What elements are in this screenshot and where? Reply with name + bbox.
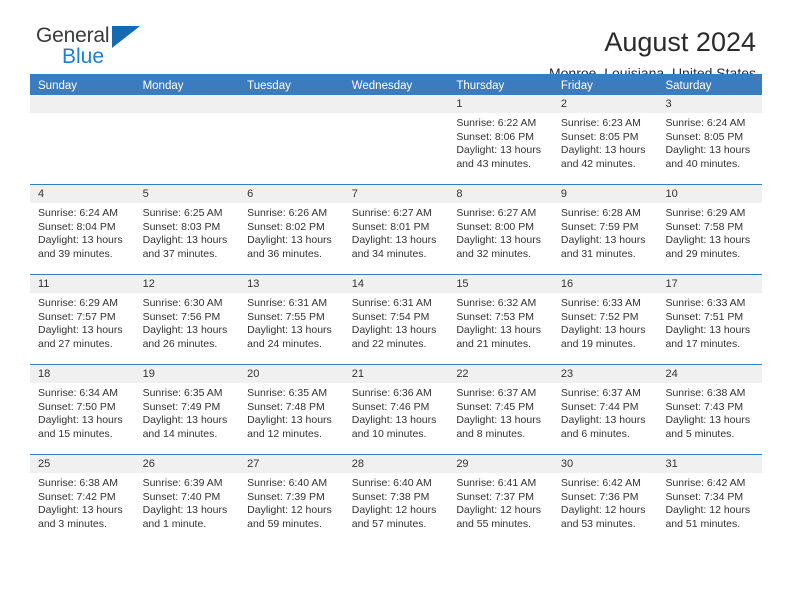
sunset-text: Sunset: 7:49 PM: [143, 401, 234, 415]
sunrise-text: Sunrise: 6:31 AM: [352, 297, 443, 311]
day-info: Sunrise: 6:26 AMSunset: 8:02 PMDaylight:…: [239, 203, 344, 261]
sunrise-text: Sunrise: 6:29 AM: [38, 297, 129, 311]
day-cell[interactable]: 16Sunrise: 6:33 AMSunset: 7:52 PMDayligh…: [553, 275, 658, 364]
day-number: 16: [553, 275, 658, 293]
sunrise-text: Sunrise: 6:32 AM: [456, 297, 547, 311]
day-cell[interactable]: 21Sunrise: 6:36 AMSunset: 7:46 PMDayligh…: [344, 365, 449, 454]
sunset-text: Sunset: 7:38 PM: [352, 491, 443, 505]
day-cell[interactable]: 30Sunrise: 6:42 AMSunset: 7:36 PMDayligh…: [553, 455, 658, 544]
sunrise-text: Sunrise: 6:33 AM: [561, 297, 652, 311]
sunrise-text: Sunrise: 6:26 AM: [247, 207, 338, 221]
day-info: Sunrise: 6:42 AMSunset: 7:34 PMDaylight:…: [657, 473, 762, 531]
sunset-text: Sunset: 7:46 PM: [352, 401, 443, 415]
day-number: 29: [448, 455, 553, 473]
daylight-text: Daylight: 13 hours and 17 minutes.: [665, 324, 756, 351]
sunrise-text: Sunrise: 6:22 AM: [456, 117, 547, 131]
sunrise-text: Sunrise: 6:34 AM: [38, 387, 129, 401]
day-cell[interactable]: 7Sunrise: 6:27 AMSunset: 8:01 PMDaylight…: [344, 185, 449, 274]
sunset-text: Sunset: 7:43 PM: [665, 401, 756, 415]
day-number: 21: [344, 365, 449, 383]
daylight-text: Daylight: 13 hours and 14 minutes.: [143, 414, 234, 441]
day-cell[interactable]: 10Sunrise: 6:29 AMSunset: 7:58 PMDayligh…: [657, 185, 762, 274]
sunset-text: Sunset: 7:44 PM: [561, 401, 652, 415]
day-info: Sunrise: 6:39 AMSunset: 7:40 PMDaylight:…: [135, 473, 240, 531]
day-info: Sunrise: 6:25 AMSunset: 8:03 PMDaylight:…: [135, 203, 240, 261]
day-number: 2: [553, 95, 658, 113]
weekday-header-wednesday: Wednesday: [344, 74, 449, 95]
day-info: Sunrise: 6:27 AMSunset: 8:01 PMDaylight:…: [344, 203, 449, 261]
sunset-text: Sunset: 8:05 PM: [561, 131, 652, 145]
daylight-text: Daylight: 12 hours and 55 minutes.: [456, 504, 547, 531]
sunrise-text: Sunrise: 6:27 AM: [456, 207, 547, 221]
daylight-text: Daylight: 12 hours and 53 minutes.: [561, 504, 652, 531]
sunset-text: Sunset: 7:56 PM: [143, 311, 234, 325]
sunset-text: Sunset: 8:02 PM: [247, 221, 338, 235]
sunrise-text: Sunrise: 6:35 AM: [247, 387, 338, 401]
sunset-text: Sunset: 8:06 PM: [456, 131, 547, 145]
weekday-header-sunday: Sunday: [30, 74, 135, 95]
day-cell[interactable]: 26Sunrise: 6:39 AMSunset: 7:40 PMDayligh…: [135, 455, 240, 544]
day-cell[interactable]: 31Sunrise: 6:42 AMSunset: 7:34 PMDayligh…: [657, 455, 762, 544]
sunrise-text: Sunrise: 6:24 AM: [665, 117, 756, 131]
general-blue-logo[interactable]: General Blue: [36, 25, 156, 73]
daylight-text: Daylight: 13 hours and 21 minutes.: [456, 324, 547, 351]
day-number: 4: [30, 185, 135, 203]
day-info: Sunrise: 6:42 AMSunset: 7:36 PMDaylight:…: [553, 473, 658, 531]
day-cell[interactable]: 19Sunrise: 6:35 AMSunset: 7:49 PMDayligh…: [135, 365, 240, 454]
sunset-text: Sunset: 8:03 PM: [143, 221, 234, 235]
sunrise-text: Sunrise: 6:27 AM: [352, 207, 443, 221]
daylight-text: Daylight: 13 hours and 42 minutes.: [561, 144, 652, 171]
weekday-header-saturday: Saturday: [657, 74, 762, 95]
day-number: 26: [135, 455, 240, 473]
day-info: Sunrise: 6:31 AMSunset: 7:55 PMDaylight:…: [239, 293, 344, 351]
sunrise-text: Sunrise: 6:38 AM: [38, 477, 129, 491]
day-number: 14: [344, 275, 449, 293]
day-cell[interactable]: 9Sunrise: 6:28 AMSunset: 7:59 PMDaylight…: [553, 185, 658, 274]
daylight-text: Daylight: 13 hours and 34 minutes.: [352, 234, 443, 261]
day-number: 6: [239, 185, 344, 203]
sunset-text: Sunset: 8:05 PM: [665, 131, 756, 145]
logo-triangle-icon: [112, 26, 140, 48]
sunset-text: Sunset: 7:34 PM: [665, 491, 756, 505]
sunrise-text: Sunrise: 6:30 AM: [143, 297, 234, 311]
day-info: Sunrise: 6:37 AMSunset: 7:44 PMDaylight:…: [553, 383, 658, 441]
day-info: Sunrise: 6:23 AMSunset: 8:05 PMDaylight:…: [553, 113, 658, 171]
day-number: 31: [657, 455, 762, 473]
day-info: Sunrise: 6:33 AMSunset: 7:52 PMDaylight:…: [553, 293, 658, 351]
day-info: Sunrise: 6:41 AMSunset: 7:37 PMDaylight:…: [448, 473, 553, 531]
daylight-text: Daylight: 13 hours and 19 minutes.: [561, 324, 652, 351]
daylight-text: Daylight: 13 hours and 10 minutes.: [352, 414, 443, 441]
daylight-text: Daylight: 13 hours and 43 minutes.: [456, 144, 547, 171]
day-info: Sunrise: 6:40 AMSunset: 7:39 PMDaylight:…: [239, 473, 344, 531]
day-info: Sunrise: 6:24 AMSunset: 8:05 PMDaylight:…: [657, 113, 762, 171]
day-number: 24: [657, 365, 762, 383]
day-number: 15: [448, 275, 553, 293]
day-number: [135, 95, 240, 113]
day-info: Sunrise: 6:35 AMSunset: 7:49 PMDaylight:…: [135, 383, 240, 441]
day-info: Sunrise: 6:38 AMSunset: 7:42 PMDaylight:…: [30, 473, 135, 531]
sunset-text: Sunset: 7:54 PM: [352, 311, 443, 325]
sunset-text: Sunset: 8:01 PM: [352, 221, 443, 235]
daylight-text: Daylight: 13 hours and 1 minute.: [143, 504, 234, 531]
day-cell[interactable]: 24Sunrise: 6:38 AMSunset: 7:43 PMDayligh…: [657, 365, 762, 454]
sunrise-text: Sunrise: 6:35 AM: [143, 387, 234, 401]
day-number: 23: [553, 365, 658, 383]
sunset-text: Sunset: 7:52 PM: [561, 311, 652, 325]
day-number: 13: [239, 275, 344, 293]
day-cell[interactable]: 27Sunrise: 6:40 AMSunset: 7:39 PMDayligh…: [239, 455, 344, 544]
weekday-header-friday: Friday: [553, 74, 658, 95]
day-cell[interactable]: 11Sunrise: 6:29 AMSunset: 7:57 PMDayligh…: [30, 275, 135, 364]
sunset-text: Sunset: 7:37 PM: [456, 491, 547, 505]
day-cell[interactable]: 17Sunrise: 6:33 AMSunset: 7:51 PMDayligh…: [657, 275, 762, 364]
day-number: 28: [344, 455, 449, 473]
day-number: 17: [657, 275, 762, 293]
sunset-text: Sunset: 7:50 PM: [38, 401, 129, 415]
weekday-header-monday: Monday: [135, 74, 240, 95]
day-cell[interactable]: 15Sunrise: 6:32 AMSunset: 7:53 PMDayligh…: [448, 275, 553, 364]
sunrise-text: Sunrise: 6:23 AM: [561, 117, 652, 131]
day-cell[interactable]: 14Sunrise: 6:31 AMSunset: 7:54 PMDayligh…: [344, 275, 449, 364]
day-info: Sunrise: 6:28 AMSunset: 7:59 PMDaylight:…: [553, 203, 658, 261]
day-number: 30: [553, 455, 658, 473]
sunrise-text: Sunrise: 6:28 AM: [561, 207, 652, 221]
logo-text-blue: Blue: [62, 46, 156, 68]
page-header: General Blue August 2024 Monroe, Louisia…: [30, 0, 762, 74]
daylight-text: Daylight: 13 hours and 37 minutes.: [143, 234, 234, 261]
day-cell[interactable]: 2Sunrise: 6:23 AMSunset: 8:05 PMDaylight…: [553, 95, 658, 184]
day-number: 12: [135, 275, 240, 293]
sunrise-text: Sunrise: 6:41 AM: [456, 477, 547, 491]
daylight-text: Daylight: 13 hours and 8 minutes.: [456, 414, 547, 441]
sunset-text: Sunset: 7:59 PM: [561, 221, 652, 235]
calendar-week-row: 25Sunrise: 6:38 AMSunset: 7:42 PMDayligh…: [30, 454, 762, 544]
sunrise-text: Sunrise: 6:33 AM: [665, 297, 756, 311]
day-info: Sunrise: 6:37 AMSunset: 7:45 PMDaylight:…: [448, 383, 553, 441]
page-title: August 2024: [549, 26, 756, 58]
day-number: 10: [657, 185, 762, 203]
calendar-grid: SundayMondayTuesdayWednesdayThursdayFrid…: [30, 74, 762, 544]
sunrise-text: Sunrise: 6:40 AM: [247, 477, 338, 491]
calendar-week-row: 1Sunrise: 6:22 AMSunset: 8:06 PMDaylight…: [30, 95, 762, 184]
calendar-week-row: 11Sunrise: 6:29 AMSunset: 7:57 PMDayligh…: [30, 274, 762, 364]
calendar-page: General Blue August 2024 Monroe, Louisia…: [0, 0, 792, 612]
sunrise-text: Sunrise: 6:36 AM: [352, 387, 443, 401]
sunset-text: Sunset: 7:57 PM: [38, 311, 129, 325]
day-info: Sunrise: 6:36 AMSunset: 7:46 PMDaylight:…: [344, 383, 449, 441]
daylight-text: Daylight: 13 hours and 24 minutes.: [247, 324, 338, 351]
daylight-text: Daylight: 13 hours and 40 minutes.: [665, 144, 756, 171]
day-number: 9: [553, 185, 658, 203]
sunrise-text: Sunrise: 6:37 AM: [456, 387, 547, 401]
sunset-text: Sunset: 7:45 PM: [456, 401, 547, 415]
sunset-text: Sunset: 7:36 PM: [561, 491, 652, 505]
day-cell[interactable]: 4Sunrise: 6:24 AMSunset: 8:04 PMDaylight…: [30, 185, 135, 274]
daylight-text: Daylight: 13 hours and 3 minutes.: [38, 504, 129, 531]
day-info: Sunrise: 6:29 AMSunset: 7:57 PMDaylight:…: [30, 293, 135, 351]
daylight-text: Daylight: 13 hours and 32 minutes.: [456, 234, 547, 261]
daylight-text: Daylight: 13 hours and 27 minutes.: [38, 324, 129, 351]
daylight-text: Daylight: 13 hours and 6 minutes.: [561, 414, 652, 441]
daylight-text: Daylight: 13 hours and 5 minutes.: [665, 414, 756, 441]
weekday-header-thursday: Thursday: [448, 74, 553, 95]
day-cell[interactable]: 13Sunrise: 6:31 AMSunset: 7:55 PMDayligh…: [239, 275, 344, 364]
day-info: Sunrise: 6:40 AMSunset: 7:38 PMDaylight:…: [344, 473, 449, 531]
sunset-text: Sunset: 8:04 PM: [38, 221, 129, 235]
day-cell[interactable]: 23Sunrise: 6:37 AMSunset: 7:44 PMDayligh…: [553, 365, 658, 454]
day-number: [30, 95, 135, 113]
day-cell[interactable]: 8Sunrise: 6:27 AMSunset: 8:00 PMDaylight…: [448, 185, 553, 274]
daylight-text: Daylight: 13 hours and 39 minutes.: [38, 234, 129, 261]
day-info: Sunrise: 6:30 AMSunset: 7:56 PMDaylight:…: [135, 293, 240, 351]
day-cell[interactable]: 29Sunrise: 6:41 AMSunset: 7:37 PMDayligh…: [448, 455, 553, 544]
day-cell[interactable]: 12Sunrise: 6:30 AMSunset: 7:56 PMDayligh…: [135, 275, 240, 364]
sunset-text: Sunset: 8:00 PM: [456, 221, 547, 235]
daylight-text: Daylight: 13 hours and 31 minutes.: [561, 234, 652, 261]
day-info: Sunrise: 6:35 AMSunset: 7:48 PMDaylight:…: [239, 383, 344, 441]
day-cell[interactable]: 25Sunrise: 6:38 AMSunset: 7:42 PMDayligh…: [30, 455, 135, 544]
sunset-text: Sunset: 7:40 PM: [143, 491, 234, 505]
day-number: 19: [135, 365, 240, 383]
day-info: Sunrise: 6:32 AMSunset: 7:53 PMDaylight:…: [448, 293, 553, 351]
day-number: 8: [448, 185, 553, 203]
day-info: Sunrise: 6:22 AMSunset: 8:06 PMDaylight:…: [448, 113, 553, 171]
sunrise-text: Sunrise: 6:31 AM: [247, 297, 338, 311]
day-number: 18: [30, 365, 135, 383]
calendar-week-row: 18Sunrise: 6:34 AMSunset: 7:50 PMDayligh…: [30, 364, 762, 454]
day-info: Sunrise: 6:38 AMSunset: 7:43 PMDaylight:…: [657, 383, 762, 441]
daylight-text: Daylight: 12 hours and 51 minutes.: [665, 504, 756, 531]
weekday-header-tuesday: Tuesday: [239, 74, 344, 95]
day-cell[interactable]: 20Sunrise: 6:35 AMSunset: 7:48 PMDayligh…: [239, 365, 344, 454]
daylight-text: Daylight: 13 hours and 15 minutes.: [38, 414, 129, 441]
sunset-text: Sunset: 7:58 PM: [665, 221, 756, 235]
day-info: Sunrise: 6:33 AMSunset: 7:51 PMDaylight:…: [657, 293, 762, 351]
day-info: Sunrise: 6:29 AMSunset: 7:58 PMDaylight:…: [657, 203, 762, 261]
daylight-text: Daylight: 13 hours and 26 minutes.: [143, 324, 234, 351]
daylight-text: Daylight: 12 hours and 57 minutes.: [352, 504, 443, 531]
day-number: 1: [448, 95, 553, 113]
weekday-header-row: SundayMondayTuesdayWednesdayThursdayFrid…: [30, 74, 762, 95]
sunrise-text: Sunrise: 6:38 AM: [665, 387, 756, 401]
sunset-text: Sunset: 7:55 PM: [247, 311, 338, 325]
sunrise-text: Sunrise: 6:42 AM: [665, 477, 756, 491]
day-cell[interactable]: 5Sunrise: 6:25 AMSunset: 8:03 PMDaylight…: [135, 185, 240, 274]
day-cell[interactable]: 6Sunrise: 6:26 AMSunset: 8:02 PMDaylight…: [239, 185, 344, 274]
day-info: Sunrise: 6:27 AMSunset: 8:00 PMDaylight:…: [448, 203, 553, 261]
sunrise-text: Sunrise: 6:24 AM: [38, 207, 129, 221]
day-info: Sunrise: 6:24 AMSunset: 8:04 PMDaylight:…: [30, 203, 135, 261]
sunrise-text: Sunrise: 6:37 AM: [561, 387, 652, 401]
day-number: 7: [344, 185, 449, 203]
day-cell[interactable]: 28Sunrise: 6:40 AMSunset: 7:38 PMDayligh…: [344, 455, 449, 544]
day-cell-empty: [239, 95, 344, 184]
day-cell-empty: [135, 95, 240, 184]
day-number: [239, 95, 344, 113]
day-info: Sunrise: 6:34 AMSunset: 7:50 PMDaylight:…: [30, 383, 135, 441]
day-number: 11: [30, 275, 135, 293]
daylight-text: Daylight: 12 hours and 59 minutes.: [247, 504, 338, 531]
daylight-text: Daylight: 13 hours and 22 minutes.: [352, 324, 443, 351]
day-number: 27: [239, 455, 344, 473]
daylight-text: Daylight: 13 hours and 12 minutes.: [247, 414, 338, 441]
sunrise-text: Sunrise: 6:42 AM: [561, 477, 652, 491]
day-number: [344, 95, 449, 113]
day-number: 3: [657, 95, 762, 113]
day-cell-empty: [30, 95, 135, 184]
sunrise-text: Sunrise: 6:29 AM: [665, 207, 756, 221]
sunset-text: Sunset: 7:51 PM: [665, 311, 756, 325]
calendar-body: 1Sunrise: 6:22 AMSunset: 8:06 PMDaylight…: [30, 95, 762, 544]
daylight-text: Daylight: 13 hours and 36 minutes.: [247, 234, 338, 261]
day-cell[interactable]: 3Sunrise: 6:24 AMSunset: 8:05 PMDaylight…: [657, 95, 762, 184]
day-number: 5: [135, 185, 240, 203]
calendar-week-row: 4Sunrise: 6:24 AMSunset: 8:04 PMDaylight…: [30, 184, 762, 274]
daylight-text: Daylight: 13 hours and 29 minutes.: [665, 234, 756, 261]
sunset-text: Sunset: 7:53 PM: [456, 311, 547, 325]
sunset-text: Sunset: 7:42 PM: [38, 491, 129, 505]
sunrise-text: Sunrise: 6:39 AM: [143, 477, 234, 491]
day-cell[interactable]: 18Sunrise: 6:34 AMSunset: 7:50 PMDayligh…: [30, 365, 135, 454]
day-cell-empty: [344, 95, 449, 184]
sunrise-text: Sunrise: 6:40 AM: [352, 477, 443, 491]
sunset-text: Sunset: 7:48 PM: [247, 401, 338, 415]
day-cell[interactable]: 22Sunrise: 6:37 AMSunset: 7:45 PMDayligh…: [448, 365, 553, 454]
day-cell[interactable]: 1Sunrise: 6:22 AMSunset: 8:06 PMDaylight…: [448, 95, 553, 184]
day-number: 25: [30, 455, 135, 473]
sunset-text: Sunset: 7:39 PM: [247, 491, 338, 505]
day-number: 22: [448, 365, 553, 383]
sunrise-text: Sunrise: 6:25 AM: [143, 207, 234, 221]
day-info: Sunrise: 6:31 AMSunset: 7:54 PMDaylight:…: [344, 293, 449, 351]
day-number: 20: [239, 365, 344, 383]
